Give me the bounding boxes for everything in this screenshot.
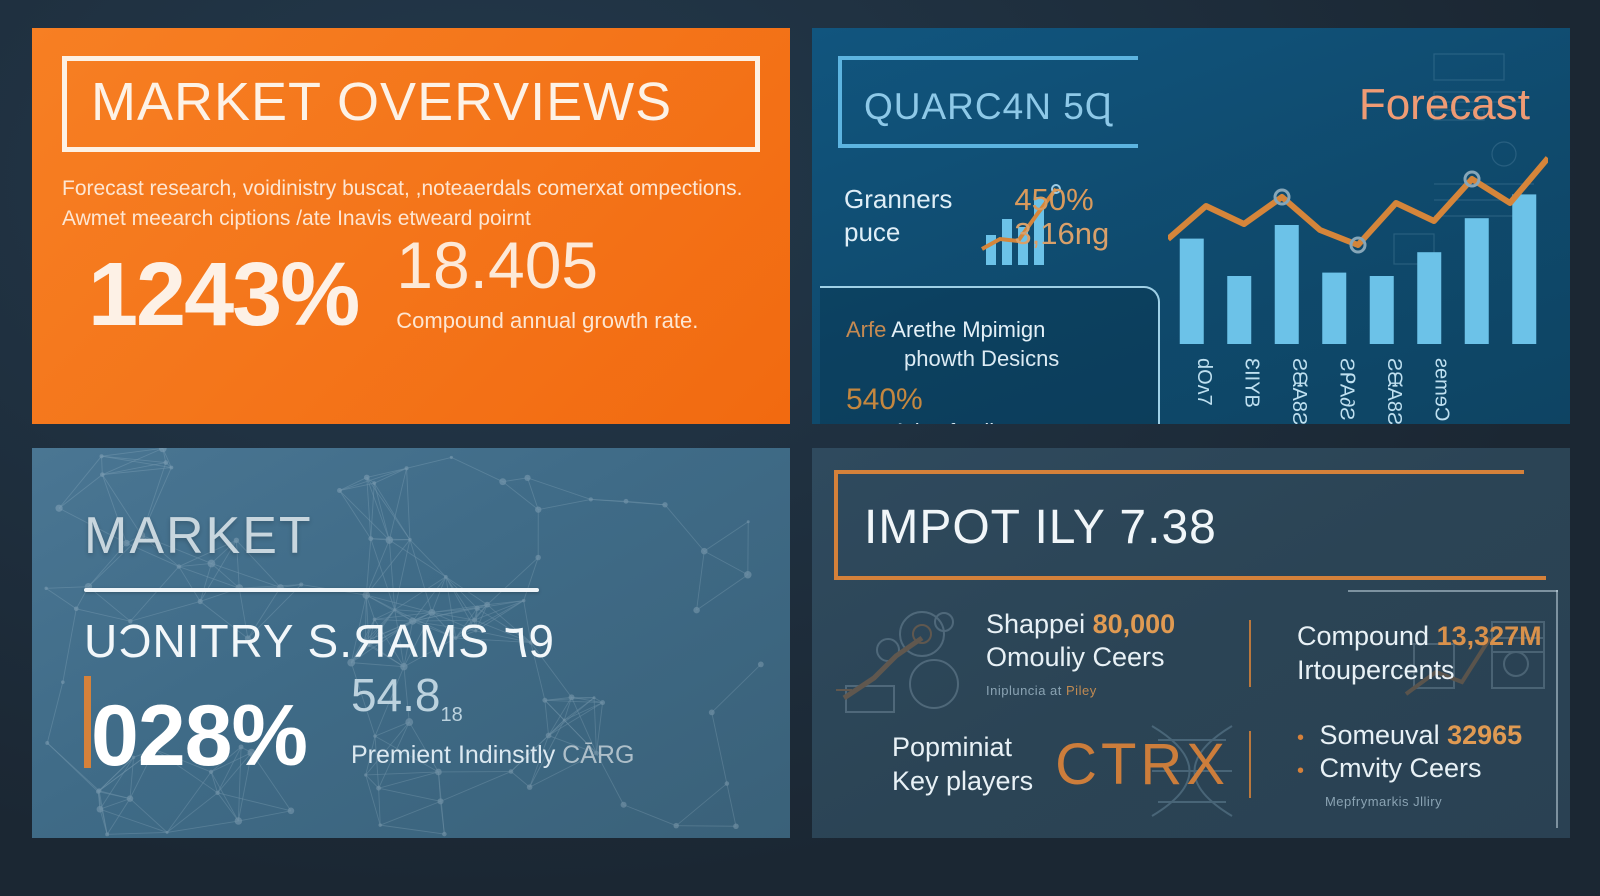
caption-dim: CĀRG [562, 741, 634, 769]
caption-main: Premient Indinsitly [351, 741, 555, 769]
stat-caption: Mepfrymarkis Jlliry [1325, 794, 1522, 810]
panel-line4: ▪ Arixa fes lizoe [880, 419, 1140, 424]
stat-line2: • Cmvity Ceers [1297, 752, 1522, 786]
panel-line1-amber: Arfe [846, 317, 886, 342]
panel-line1: Arfe Arethe Mpimign [846, 316, 1140, 345]
quarterly-kv-label-line1: Granners [844, 183, 952, 216]
chart-bar [1465, 218, 1489, 344]
market-industry-big-group: 028% [84, 676, 307, 778]
panel-bullet-icon: ▪ [880, 419, 888, 424]
impact-header-box: IMPOT ILY 7.38 [834, 470, 1524, 580]
panel-line4-text: Arixa fes lizoe [893, 419, 1030, 424]
quarterly-detail-panel: Arfe Arethe Mpimign phowth Desicns 540% … [820, 286, 1160, 424]
stat-cell-compound-percents[interactable]: Compound 13,327M Irtoupercents [1251, 598, 1564, 709]
stat-label1: Someuval [1320, 720, 1440, 750]
market-overview-secondary: 18.405 Compound annual growth rate. [396, 232, 698, 338]
stat-text: Popminiat Key players [892, 731, 1033, 799]
card-impact-stats[interactable]: IMPOT ILY 7.38 [812, 448, 1570, 838]
market-overview-body-text: Forecast research, voidinistry buscat, ,… [62, 174, 752, 235]
stat-caption-plain: Inipluncia at [986, 683, 1062, 698]
chart-bar [1417, 252, 1441, 344]
panel-line3: 540% [846, 383, 1140, 417]
chart-bar [1275, 225, 1299, 344]
panel-line2: phowth Desicns [904, 345, 1140, 374]
stat-cell-key-players[interactable]: Popminiat Key players CTRX [846, 709, 1251, 820]
stat-text: Shappei 80,000 Omouliy Ceers Inipluncia … [986, 608, 1175, 700]
infographic-dashboard: MARKET OVERVIEWS Forecast research, void… [0, 0, 1600, 896]
impact-stat-grid: Shappei 80,000 Omouliy Ceers Inipluncia … [846, 598, 1544, 820]
quarterly-kv-values: 450% 3,16ng [1014, 183, 1109, 251]
chart-bar-label: ƨemɘƆ [1430, 358, 1452, 421]
stat-line1: Popminiat [892, 731, 1033, 765]
chart-bar-label: ƐIIYB [1240, 358, 1262, 408]
market-industry-secondary: 54.818 Premient Indinsitly CĀRG [351, 672, 634, 778]
market-industry-subheading: UƆNITRY S.ЯAMS ٦9 [84, 614, 790, 668]
quarterly-header-box: QUARC4N 5Ɋ [838, 56, 1138, 148]
market-overview-secondary-caption: Compound annual growth rate. [396, 308, 698, 334]
chart-trend-line [1168, 158, 1548, 245]
card-grid: MARKET OVERVIEWS Forecast research, void… [0, 0, 1600, 896]
chart-bar [1370, 276, 1394, 344]
stat-amount: 32965 [1447, 720, 1522, 750]
stat-bullet-icon-2: • [1297, 760, 1304, 782]
stat-cell-community-users[interactable]: • Someuval 32965 • Cmvity Ceers Mepfryma… [1251, 709, 1564, 820]
stat-line2: Irtoupercents [1297, 654, 1542, 688]
card-market-overview[interactable]: MARKET OVERVIEWS Forecast research, void… [32, 28, 790, 424]
chart-bar [1322, 273, 1346, 344]
stat-caption-hl: Piley [1066, 683, 1097, 698]
market-industry-caption: Premient Indinsitly CĀRG [351, 741, 634, 770]
key-players-badge: CTRX [1055, 731, 1229, 798]
quarterly-kv-label-line2: puce [844, 216, 952, 249]
stat-text: Compound 13,327M Irtoupercents [1297, 620, 1542, 688]
market-industry-secondary-number: 54.818 [351, 672, 634, 725]
secondary-number-subscript: 18 [441, 704, 463, 726]
stat-label1: Shappei [986, 609, 1085, 639]
stat-line1: Shappei 80,000 [986, 608, 1175, 642]
chart-bar-label: ƧᙠA8Ƨ [1288, 358, 1310, 424]
quarterly-header-label: QUARC4N 5Ɋ [864, 86, 1113, 128]
stat-line1: • Someuval 32965 [1297, 719, 1522, 753]
market-industry-heading: MARKET [84, 510, 790, 562]
quarterly-kv-value1: 450% [1014, 183, 1109, 217]
impact-header-label: IMPOT ILY 7.38 [864, 500, 1217, 555]
stat-text: • Someuval 32965 • Cmvity Ceers Mepfryma… [1297, 719, 1522, 811]
accent-bar [84, 676, 91, 768]
forecast-chart[interactable]: dOʌ7ƐIIYBƧᙠA8ƧƧᑭA∂ƧƧᙠA8ƧƨemɘƆ [1168, 94, 1548, 424]
card-quarterly-forecast[interactable]: QUARC4N 5Ɋ Forecast Granners puce [812, 28, 1570, 424]
panel-line1-rest: Arethe Mpimign [891, 317, 1045, 342]
chart-bar-label: ƧᑭA∂Ƨ [1335, 358, 1357, 420]
impact-header-rule [834, 576, 1546, 580]
stat-line2: Key players [892, 765, 1033, 799]
market-overview-big-number: 1243% [88, 253, 358, 339]
chart-bar [1512, 194, 1536, 344]
market-overview-title-box: MARKET OVERVIEWS [62, 56, 760, 152]
quarterly-key-value: Granners puce 450% 3,16ng [844, 183, 1109, 267]
stat-amount: 80,000 [1093, 609, 1176, 639]
stat-label2: Cmvity Ceers [1320, 753, 1482, 783]
chart-bar [1227, 276, 1251, 344]
market-industry-big-number: 028% [91, 696, 307, 778]
chart-bar-label: ƧᙠA8Ƨ [1383, 358, 1405, 424]
stat-amount: 13,327M [1437, 621, 1542, 651]
market-industry-rule [84, 588, 539, 592]
quarterly-kv-value2: 3,16ng [1014, 217, 1109, 251]
stat-caption: Inipluncia at Piley [986, 683, 1175, 699]
quarterly-kv-label: Granners puce [844, 183, 952, 248]
stat-cell-shipped-consumers[interactable]: Shappei 80,000 Omouliy Ceers Inipluncia … [846, 598, 1251, 709]
stat-bullet-icon: • [1297, 727, 1304, 749]
market-overview-secondary-number: 18.405 [396, 232, 698, 298]
stat-line2: Omouliy Ceers [986, 641, 1175, 675]
market-industry-figures: 028% 54.818 Premient Indinsitly CĀRG [84, 672, 760, 778]
page-title: MARKET OVERVIEWS [91, 75, 731, 129]
chart-bar [1180, 239, 1204, 344]
market-overview-figures: 1243% 18.405 Compound annual growth rate… [88, 232, 760, 338]
secondary-number-main: 54.8 [351, 669, 441, 721]
market-industry-header: MARKET UƆNITRY S.ЯAMS ٦9 [32, 448, 790, 668]
chart-bar-label: dOʌ7 [1193, 358, 1215, 406]
impact-corner-top [1348, 590, 1558, 592]
forecast-chart-svg: dOʌ7ƐIIYBƧᙠA8ƧƧᑭA∂ƧƧᙠA8ƧƨemɘƆ [1168, 94, 1548, 424]
stat-label1: Compound [1297, 621, 1429, 651]
stat-line1: Compound 13,327M [1297, 620, 1542, 654]
card-market-industry[interactable]: MARKET UƆNITRY S.ЯAMS ٦9 028% 54.818 Pre… [32, 448, 790, 838]
